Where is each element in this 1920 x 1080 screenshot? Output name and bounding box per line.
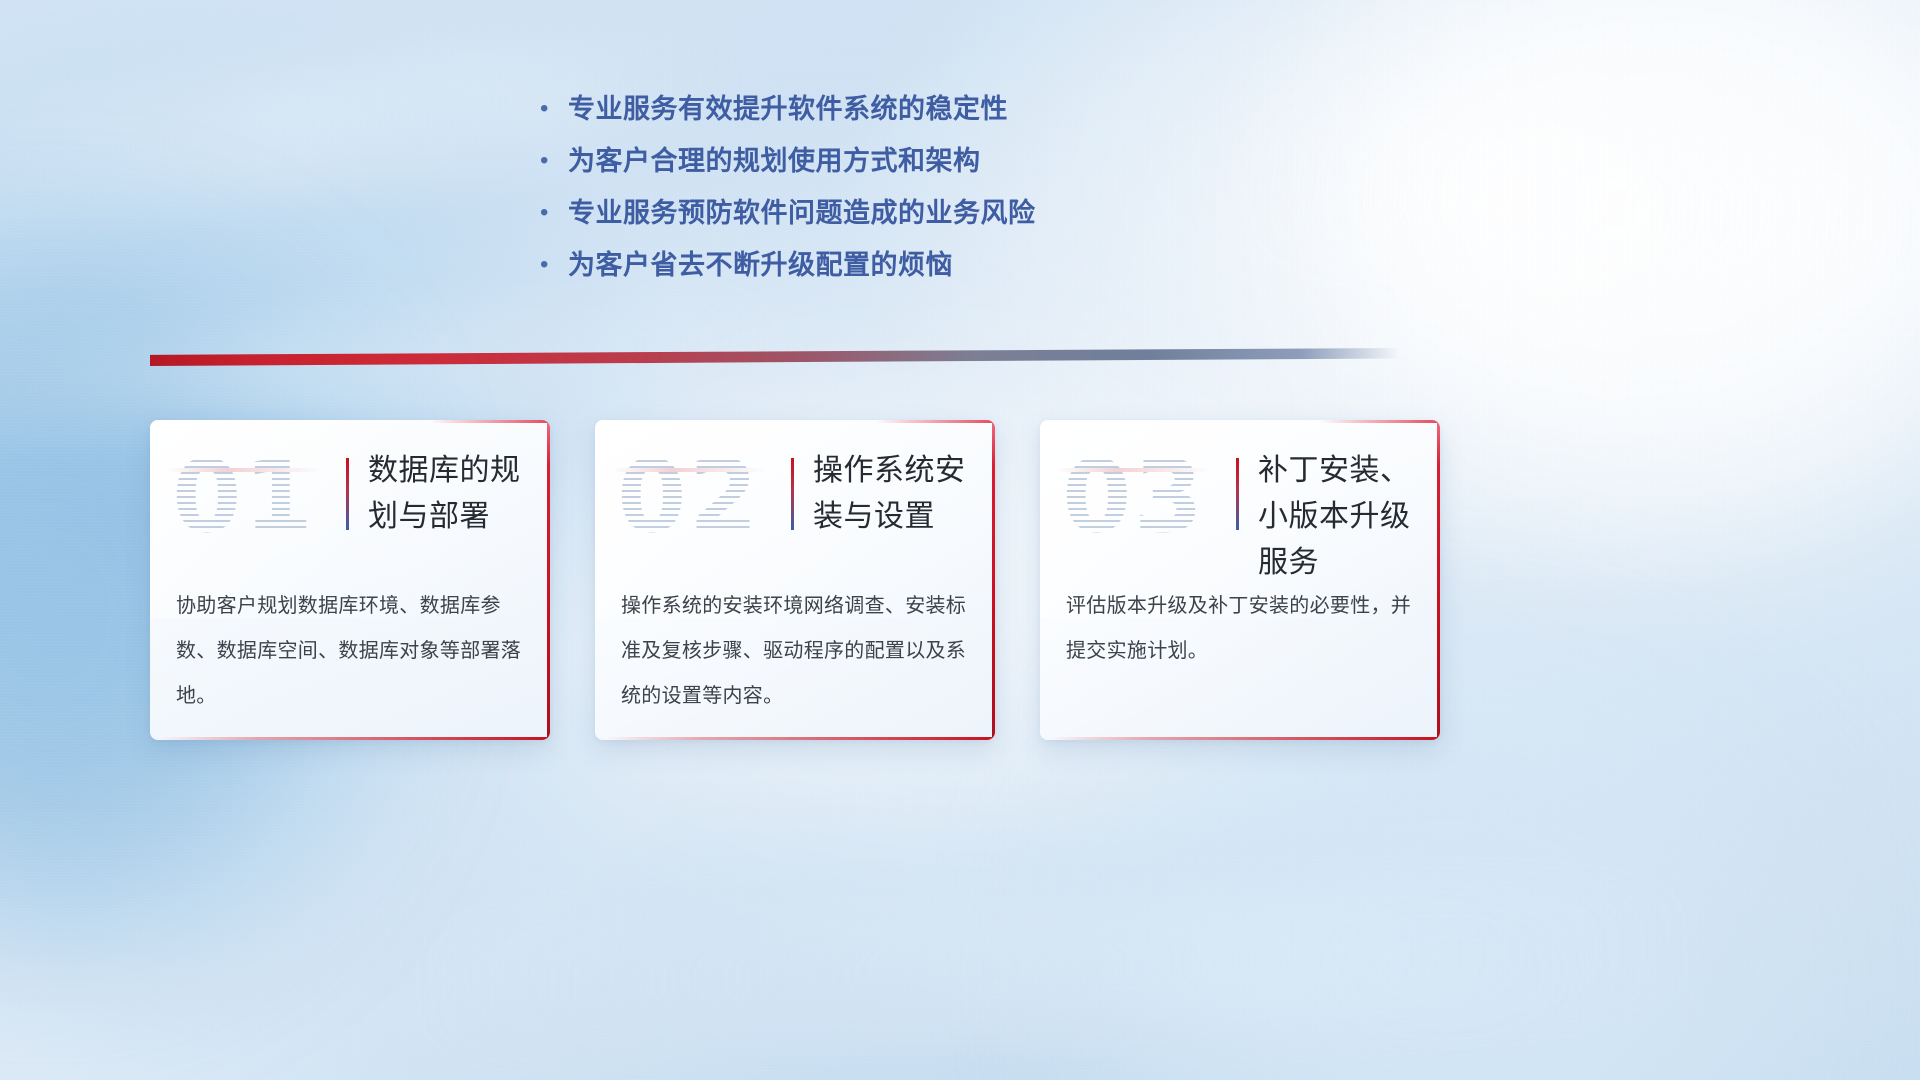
service-card-02[interactable]: 02 操作系统安装与设置 操作系统的安装环境网络调查、安装标准及复核步骤、驱动程… [595,420,995,740]
list-item: • 专业服务预防软件问题造成的业务风险 [540,196,1240,248]
section-divider [150,348,1400,366]
card-header: 02 操作系统安装与设置 [595,420,995,580]
bullet-dot-icon: • [540,196,568,230]
bullet-text: 专业服务预防软件问题造成的业务风险 [568,196,1036,230]
list-item: • 为客户省去不断升级配置的烦恼 [540,248,1240,300]
bullet-dot-icon: • [540,248,568,282]
service-card-01[interactable]: 01 数据库的规划与部署 协助客户规划数据库环境、数据库参数、数据库空间、数据库… [150,420,550,740]
card-header: 03 补丁安装、小版本升级服务 [1040,420,1440,580]
card-watermark-number: 02 [617,442,760,552]
card-header: 01 数据库的规划与部署 [150,420,550,580]
service-card-03[interactable]: 03 补丁安装、小版本升级服务 评估版本升级及补丁安装的必要性，并提交实施计划。 [1040,420,1440,740]
card-title-divider-bar [346,458,349,530]
bullet-text: 为客户省去不断升级配置的烦恼 [568,248,953,282]
card-title: 数据库的规划与部署 [368,448,536,540]
divider-tapered-line [150,348,1400,366]
card-body-text: 协助客户规划数据库环境、数据库参数、数据库空间、数据库对象等部署落地。 [176,580,524,719]
bullet-text: 专业服务有效提升软件系统的稳定性 [568,92,1008,126]
bullet-text: 为客户合理的规划使用方式和架构 [568,144,981,178]
card-watermark-number: 01 [172,442,315,552]
card-watermark-number: 03 [1062,442,1205,552]
bullet-dot-icon: • [540,144,568,178]
card-bottom-accent [160,737,550,740]
bullet-dot-icon: • [540,92,568,126]
card-title: 操作系统安装与设置 [813,448,981,540]
card-bottom-accent [1050,737,1440,740]
service-card-list: 01 数据库的规划与部署 协助客户规划数据库环境、数据库参数、数据库空间、数据库… [150,420,1440,740]
card-title-divider-bar [1236,458,1239,530]
card-bottom-accent [605,737,995,740]
card-body-text: 操作系统的安装环境网络调查、安装标准及复核步骤、驱动程序的配置以及系统的设置等内… [621,580,969,719]
card-title-divider-bar [791,458,794,530]
list-item: • 为客户合理的规划使用方式和架构 [540,144,1240,196]
list-item: • 专业服务有效提升软件系统的稳定性 [540,92,1240,144]
card-title: 补丁安装、小版本升级服务 [1258,448,1426,586]
benefits-bullet-list: • 专业服务有效提升软件系统的稳定性 • 为客户合理的规划使用方式和架构 • 专… [540,92,1240,300]
card-body-text: 评估版本升级及补丁安装的必要性，并提交实施计划。 [1066,580,1414,674]
